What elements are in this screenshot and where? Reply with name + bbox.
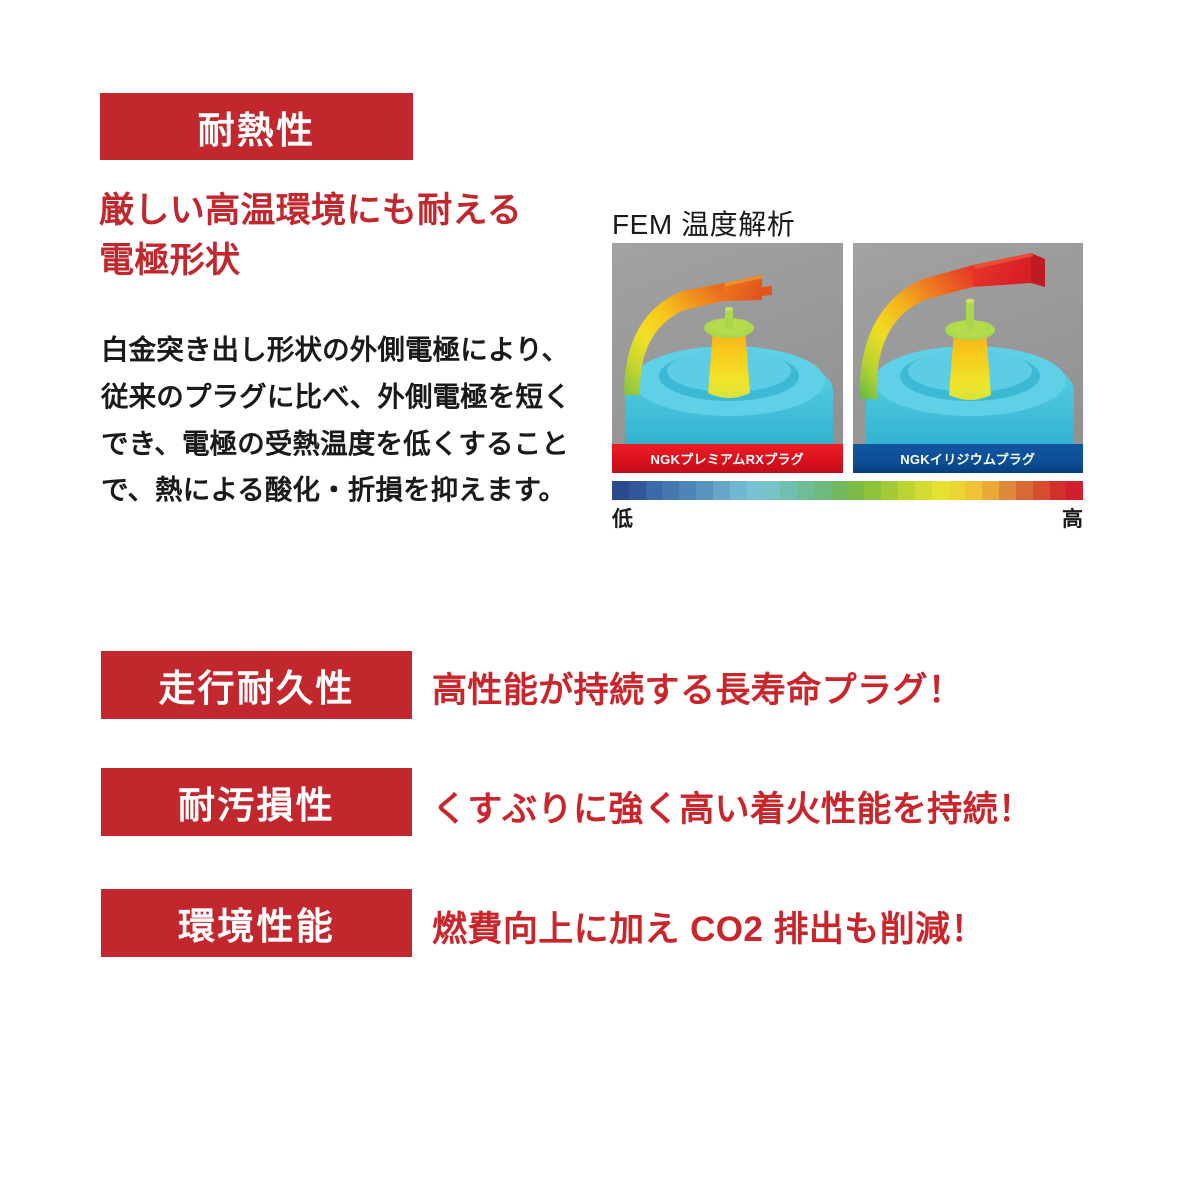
scale-swatch-18 <box>915 481 932 500</box>
scale-swatch-13 <box>831 481 848 500</box>
section-body-text: 白金突き出し形状の外側電極により、 従来のプラグに比べ、外側電極を短く でき、電… <box>101 327 601 514</box>
headline-line-2: 電極形状 <box>99 236 599 286</box>
scale-swatch-7 <box>730 481 747 500</box>
feature-text-driving-durability: 高性能が持続する長寿命プラグ！ <box>432 662 963 713</box>
scale-swatch-1 <box>629 481 646 500</box>
fem-panel-caption-iridium: NGKイリジウムプラグ <box>853 444 1084 473</box>
feature-badge-fouling-resistance: 耐汚損性 <box>101 768 412 836</box>
body-line-2: 従来のプラグに比べ、外側電極を短く <box>101 374 601 421</box>
scale-swatch-9 <box>763 481 780 500</box>
scale-swatch-5 <box>696 481 713 500</box>
temperature-color-scale <box>612 481 1083 500</box>
scale-swatch-14 <box>848 481 865 500</box>
temperature-scale-labels: 低 高 <box>612 503 1083 533</box>
body-line-4: で、熱による酸化・折損を抑えます。 <box>101 467 601 514</box>
scale-swatch-2 <box>646 481 663 500</box>
scale-swatch-21 <box>965 481 982 500</box>
body-line-3: でき、電極の受熱温度を低くすること <box>101 421 601 468</box>
scale-swatch-4 <box>679 481 696 500</box>
section-headline: 厳しい高温環境にも耐える 電極形状 <box>99 186 599 285</box>
scale-label-low: 低 <box>612 503 633 533</box>
scale-swatch-16 <box>881 481 898 500</box>
scale-swatch-19 <box>932 481 949 500</box>
scale-swatch-23 <box>999 481 1016 500</box>
feature-text-fouling-resistance: くすぶりに強く高い着火性能を持続！ <box>432 781 1033 832</box>
scale-swatch-24 <box>1016 481 1033 500</box>
fem-panel-group: NGKプレミアムRXプラグ <box>612 243 1083 473</box>
scale-swatch-26 <box>1050 481 1067 500</box>
headline-line-1: 厳しい高温環境にも耐える <box>99 186 599 236</box>
fem-panel-premium-rx: NGKプレミアムRXプラグ <box>612 243 843 473</box>
scale-label-high: 高 <box>1062 503 1083 533</box>
scale-swatch-22 <box>982 481 999 500</box>
feature-badge-driving-durability: 走行耐久性 <box>101 651 412 719</box>
scale-swatch-12 <box>814 481 831 500</box>
feature-badge-environmental-performance: 環境性能 <box>101 889 412 957</box>
scale-swatch-10 <box>780 481 797 500</box>
scale-swatch-15 <box>864 481 881 500</box>
feature-text-environmental-performance: 燃費向上に加え CO2 排出も削減！ <box>432 901 986 952</box>
poster-root: 耐熱性 厳しい高温環境にも耐える 電極形状 白金突き出し形状の外側電極により、 … <box>0 0 1200 1200</box>
scale-swatch-3 <box>662 481 679 500</box>
spark-plug-thermal-render-iridium <box>853 243 1084 473</box>
scale-swatch-25 <box>1033 481 1050 500</box>
scale-swatch-17 <box>898 481 915 500</box>
body-line-1: 白金突き出し形状の外側電極により、 <box>101 327 601 374</box>
section-badge-heat-resistance: 耐熱性 <box>100 93 413 160</box>
spark-plug-thermal-render-rx <box>612 243 843 473</box>
scale-swatch-11 <box>797 481 814 500</box>
fem-panel-caption-rx: NGKプレミアムRXプラグ <box>612 444 843 473</box>
scale-swatch-20 <box>949 481 966 500</box>
fem-analysis-title: FEM 温度解析 <box>612 203 795 243</box>
scale-swatch-8 <box>747 481 764 500</box>
fem-panel-iridium: NGKイリジウムプラグ <box>853 243 1084 473</box>
scale-swatch-27 <box>1066 481 1083 500</box>
scale-swatch-6 <box>713 481 730 500</box>
scale-swatch-0 <box>612 481 629 500</box>
